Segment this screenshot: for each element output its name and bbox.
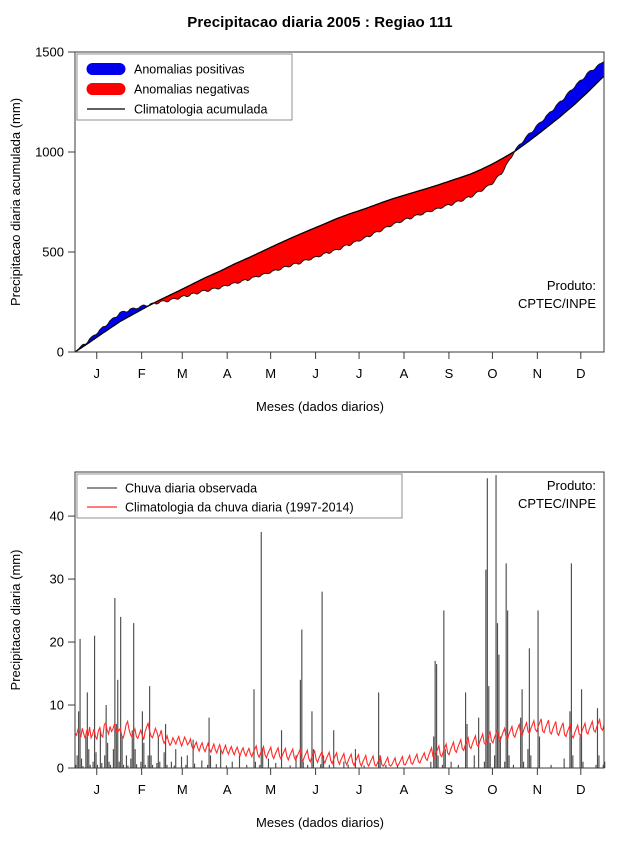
x-tick-label: N: [533, 366, 542, 381]
x-tick-label: A: [223, 366, 232, 381]
x-tick-label: J: [93, 366, 100, 381]
cumulative-precipitation-panel: 050010001500JFMAMJJASONDMeses (dados dia…: [0, 0, 640, 420]
legend-swatch-positive: [87, 64, 125, 75]
x-tick-label: J: [312, 366, 319, 381]
positive-anomaly-area: [516, 62, 604, 151]
x-tick-label: F: [138, 366, 146, 381]
producer-label-line2: CPTEC/INPE: [518, 496, 596, 511]
y-tick-label: 30: [50, 572, 64, 587]
x-tick-label: S: [445, 782, 454, 797]
x-tick-label: D: [576, 366, 585, 381]
x-tick-label: O: [487, 366, 497, 381]
y-tick-label: 0: [57, 345, 64, 360]
x-tick-label: M: [177, 366, 188, 381]
y-tick-label: 0: [57, 761, 64, 776]
x-tick-label: M: [265, 782, 276, 797]
x-tick-label: F: [138, 782, 146, 797]
legend-label: Anomalias negativas: [134, 83, 249, 97]
y-axis-title: Precipitacao diaria (mm): [8, 550, 23, 691]
y-axis-title: Precipitacao diaria acumulada (mm): [8, 98, 23, 306]
x-tick-label: S: [445, 366, 454, 381]
x-tick-label: M: [265, 366, 276, 381]
x-tick-label: A: [223, 782, 232, 797]
x-tick-label: O: [487, 782, 497, 797]
legend-label: Anomalias positivas: [134, 63, 244, 77]
y-tick-label: 1000: [35, 145, 64, 160]
y-tick-label: 10: [50, 698, 64, 713]
x-axis-title: Meses (dados diarios): [256, 815, 384, 830]
daily-climatology-line: [75, 719, 604, 766]
x-tick-label: J: [356, 366, 363, 381]
x-tick-label: J: [93, 782, 100, 797]
legend-label: Climatologia da chuva diaria (1997-2014): [125, 501, 354, 515]
x-tick-label: J: [356, 782, 363, 797]
producer-label-line2: CPTEC/INPE: [518, 296, 596, 311]
producer-label-line1: Produto:: [547, 478, 596, 493]
x-tick-label: A: [400, 366, 409, 381]
legend-label: Climatologia acumulada: [134, 103, 267, 117]
x-tick-label: J: [312, 782, 319, 797]
bottom-plot-group: 010203040JFMAMJJASONDMeses (dados diario…: [8, 472, 605, 830]
legend-swatch-negative: [87, 84, 125, 95]
y-tick-label: 20: [50, 635, 64, 650]
x-tick-label: N: [533, 782, 542, 797]
x-tick-label: D: [576, 782, 585, 797]
legend-label: Chuva diaria observada: [125, 482, 257, 496]
negative-anomaly-area: [155, 149, 516, 304]
y-tick-label: 1500: [35, 45, 64, 60]
x-axis-title: Meses (dados diarios): [256, 399, 384, 414]
chart-page: Precipitacao diaria 2005 : Regiao 111 05…: [0, 0, 640, 850]
daily-precipitation-panel: 010203040JFMAMJJASONDMeses (dados diario…: [0, 450, 640, 850]
y-tick-label: 40: [50, 509, 64, 524]
x-tick-label: A: [400, 782, 409, 797]
top-plot-group: 050010001500JFMAMJJASONDMeses (dados dia…: [8, 45, 604, 415]
x-tick-label: M: [177, 782, 188, 797]
top-legend: Anomalias positivasAnomalias negativasCl…: [77, 54, 292, 120]
bottom-legend: Chuva diaria observadaClimatologia da ch…: [77, 474, 402, 518]
producer-label-line1: Produto:: [547, 278, 596, 293]
y-tick-label: 500: [42, 245, 64, 260]
observed-daily-bars: [76, 475, 605, 768]
